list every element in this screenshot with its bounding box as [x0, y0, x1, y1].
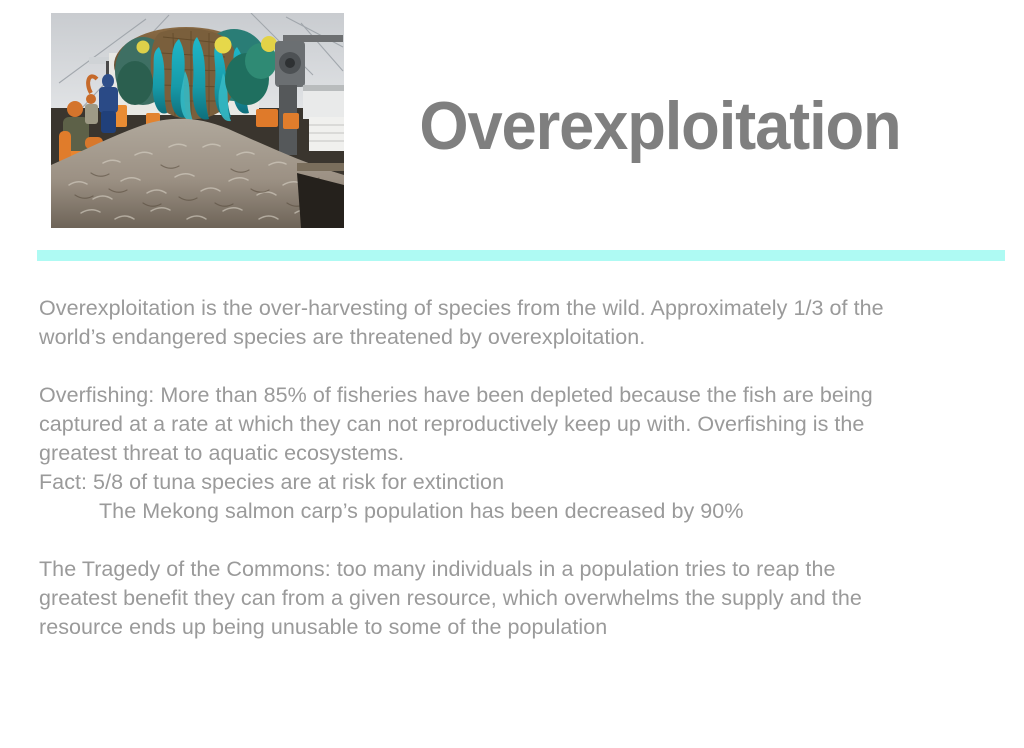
- tragedy-line-2: greatest benefit they can from a given r…: [39, 586, 862, 610]
- divider-bar: [37, 250, 1005, 261]
- overfishing-line-3: greatest threat to aquatic ecosystems.: [39, 441, 404, 465]
- paragraph-spacer-1: [39, 352, 989, 381]
- slide-body: Overexploitation is the over-harvesting …: [39, 294, 989, 642]
- commercial-fishing-trawler-photo: [51, 13, 344, 228]
- overfishing-line-1: Overfishing: More than 85% of fisheries …: [39, 383, 873, 407]
- paragraph-definition: Overexploitation is the over-harvesting …: [39, 294, 989, 352]
- tragedy-line-1: The Tragedy of the Commons: too many ind…: [39, 557, 835, 581]
- page-title: Overexploitation: [400, 88, 921, 164]
- overfishing-line-2: captured at a rate at which they can not…: [39, 412, 864, 436]
- definition-line-2: world’s endangered species are threatene…: [39, 325, 645, 349]
- mekong-carp-line: The Mekong salmon carp’s population has …: [99, 499, 743, 523]
- paragraph-tragedy-of-the-commons: The Tragedy of the Commons: too many ind…: [39, 555, 989, 642]
- paragraph-spacer-2: [39, 526, 989, 555]
- definition-line-1: Overexploitation is the over-harvesting …: [39, 296, 884, 320]
- presentation-slide: Overexploitation Overexploitation is the…: [0, 0, 1024, 748]
- tragedy-line-3: resource ends up being unusable to some …: [39, 615, 607, 639]
- overfishing-fact-line: Fact: 5/8 of tuna species are at risk fo…: [39, 470, 504, 494]
- fishing-photo-illustration: [51, 13, 344, 228]
- overfishing-indented-line: The Mekong salmon carp’s population has …: [39, 497, 989, 526]
- paragraph-overfishing: Overfishing: More than 85% of fisheries …: [39, 381, 989, 497]
